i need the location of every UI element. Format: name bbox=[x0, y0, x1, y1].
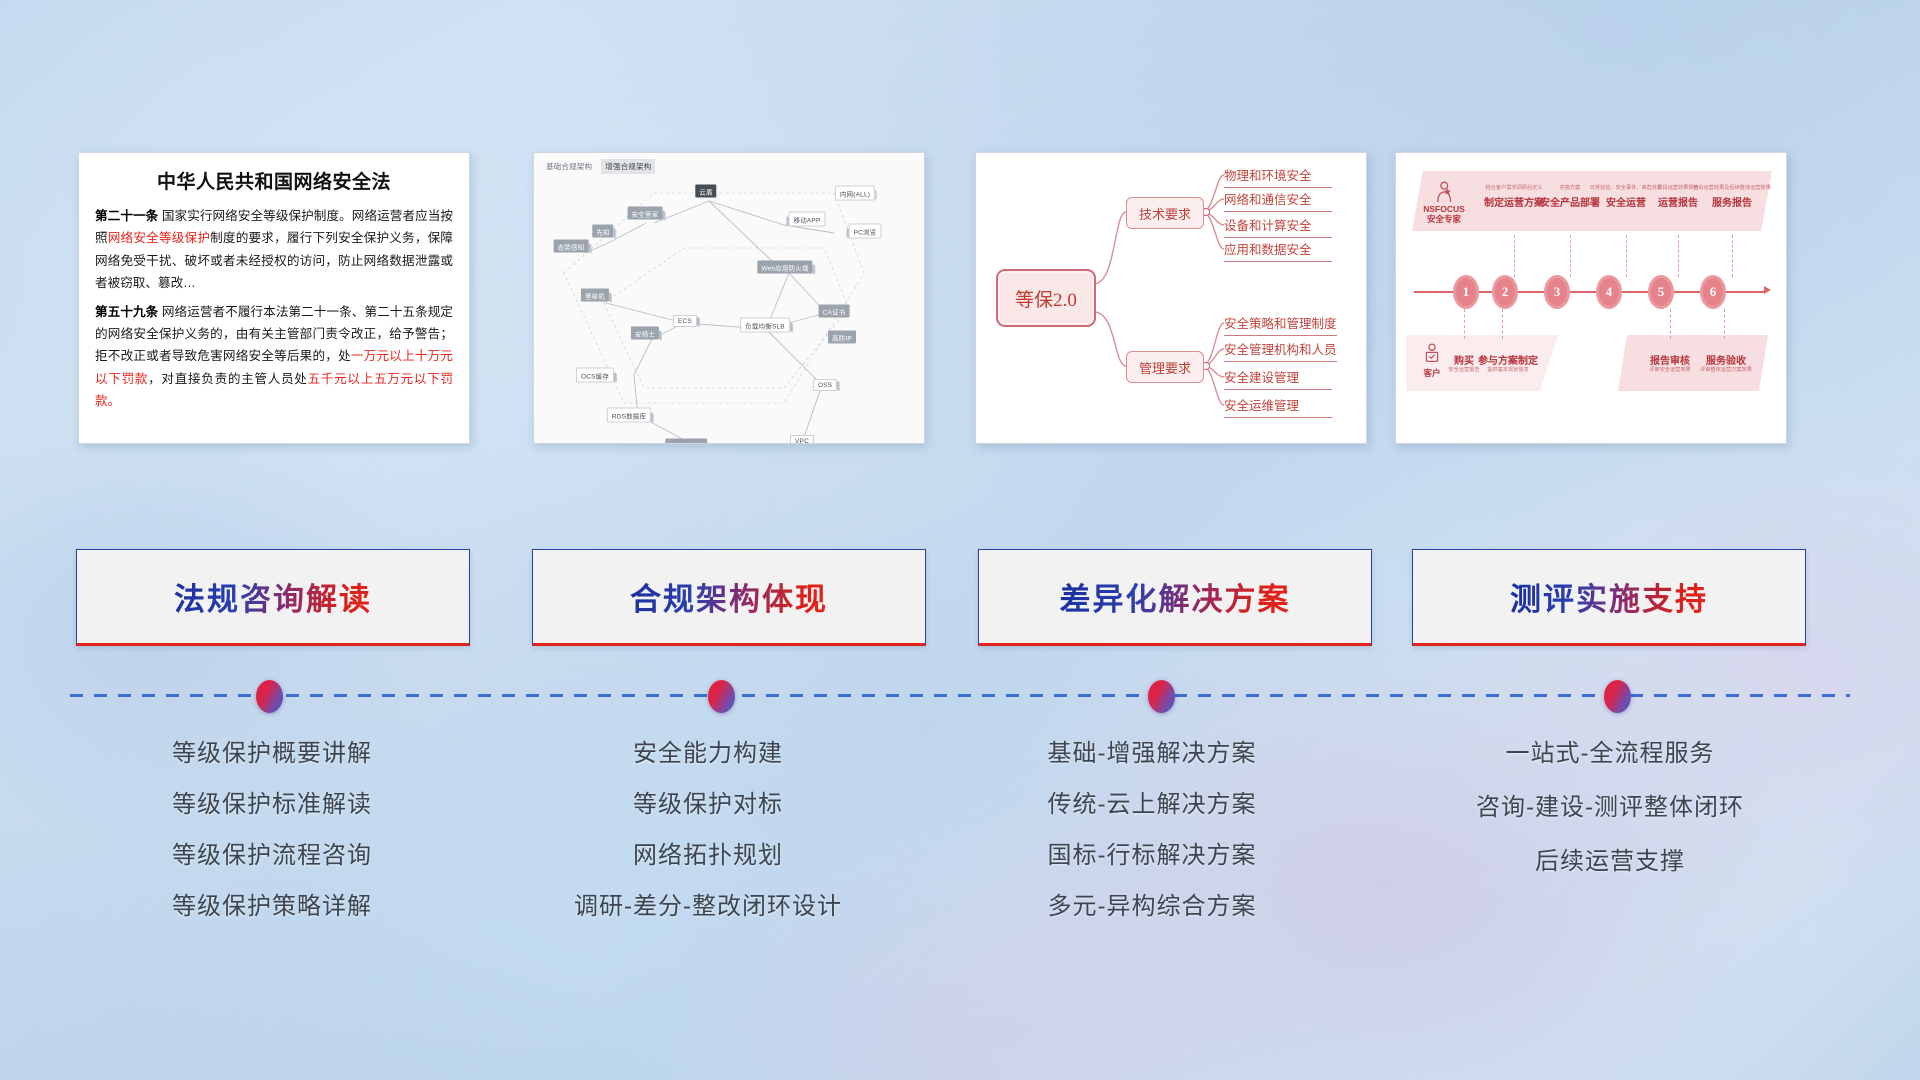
step-sub: 评审整体运营方案效果 bbox=[1700, 367, 1752, 373]
arch-node-label: 高防IP bbox=[828, 331, 856, 344]
mindmap-leaf: 安全运维管理 bbox=[1224, 395, 1332, 418]
list-item: 等级保护对标 bbox=[508, 793, 908, 817]
list-item: 传统-云上解决方案 bbox=[952, 793, 1352, 817]
list-item: 后续运营支撑 bbox=[1410, 850, 1810, 874]
step-main: 服务验收 bbox=[1700, 352, 1752, 367]
mindmap-leaf: 物理和环境安全 bbox=[1224, 165, 1332, 188]
step-sub: 提供基本现状信息 bbox=[1478, 367, 1538, 373]
customer-label: 客户 bbox=[1423, 367, 1441, 379]
arch-node-label: 安全管家 bbox=[628, 207, 663, 220]
step-sub: 评审安全运营效果 bbox=[1649, 367, 1691, 373]
article-59-label: 第五十九条 bbox=[95, 305, 158, 319]
customer-person-icon bbox=[1423, 343, 1441, 365]
mindmap-leaf: 网络和通信安全 bbox=[1224, 189, 1332, 212]
list-item: 网络拓扑规划 bbox=[508, 844, 908, 868]
list-item: 等级保护概要讲解 bbox=[72, 742, 472, 766]
column-differentiated-solution: 基础-增强解决方案 传统-云上解决方案 国标-行标解决方案 多元-异构综合方案 bbox=[952, 742, 1352, 946]
arch-node-label: 安骑士 bbox=[631, 327, 659, 340]
list-item: 安全能力构建 bbox=[508, 742, 908, 766]
law-title: 中华人民共和国网络安全法 bbox=[95, 167, 453, 194]
arch-node-label: 态势感知 bbox=[554, 240, 589, 253]
arch-node-label: OSS bbox=[813, 379, 837, 391]
process-step-dot: 2 bbox=[1492, 275, 1518, 309]
step-main: 报告审核 bbox=[1649, 352, 1691, 367]
banner-label: 合规架构体现 bbox=[630, 574, 828, 619]
step-sub: 安全运营报告 bbox=[1448, 367, 1479, 373]
law-article-59: 第五十九条 网络运营者不履行本法第二十一条、第二十五条规定的网络安全保护义务的，… bbox=[95, 301, 453, 413]
card-mindmap-dengbao[interactable]: 等保2.0 技术要求 管理要求 物理和环境安全 网络和通信安全 设备和计算安全 … bbox=[975, 152, 1367, 444]
nsfocus-expert-actor: NSFOCUS 安全专家 bbox=[1423, 181, 1465, 225]
nsfocus-bottom-step: 服务验收 评审整体运营方案效果 bbox=[1700, 349, 1752, 373]
list-item: 基础-增强解决方案 bbox=[952, 742, 1352, 766]
banner-evaluation-support[interactable]: 测评实施支持 bbox=[1412, 549, 1806, 646]
process-axis-arrow bbox=[1764, 286, 1771, 294]
law-document-body: 中华人民共和国网络安全法 第二十一条 国家实行网络安全等级保护制度。网络运营者应… bbox=[79, 153, 469, 443]
mindmap-leaf: 安全建设管理 bbox=[1224, 367, 1332, 390]
mindmap: 等保2.0 技术要求 管理要求 物理和环境安全 网络和通信安全 设备和计算安全 … bbox=[976, 153, 1366, 443]
arch-node-label: 移动APP bbox=[788, 212, 825, 227]
process-step-dot: 4 bbox=[1596, 275, 1622, 309]
nsfocus-bottom-step: 参与方案制定 提供基本现状信息 bbox=[1478, 349, 1538, 373]
timeline-marker-4[interactable] bbox=[1604, 680, 1631, 713]
process-step-dot: 5 bbox=[1648, 275, 1674, 309]
list-item: 一站式-全流程服务 bbox=[1410, 742, 1810, 766]
mindmap-leaf: 设备和计算安全 bbox=[1224, 215, 1332, 238]
article-59-text-b: ，对直接负责的主管人员处 bbox=[148, 372, 307, 386]
arch-node-label: 数据库审计 bbox=[665, 439, 707, 445]
step-main: 参与方案制定 bbox=[1478, 352, 1538, 367]
nsfocus-top-step: 日常巡检、安全事件、高危处置 安全运营 bbox=[1590, 185, 1663, 209]
law-article-21: 第二十一条 国家实行网络安全等级保护制度。网络运营者应当按照网络安全等级保护制度… bbox=[95, 205, 453, 295]
banner-label: 法规咨询解读 bbox=[174, 574, 372, 619]
list-item: 咨询-建设-测评整体闭环 bbox=[1410, 796, 1810, 820]
article-21-label: 第二十一条 bbox=[95, 209, 158, 223]
list-item: 国标-行标解决方案 bbox=[952, 844, 1352, 868]
mindmap-branch-management: 管理要求 bbox=[1126, 351, 1204, 383]
step-main: 安全运营 bbox=[1590, 194, 1663, 209]
column-compliance-architecture: 安全能力构建 等级保护对标 网络拓扑规划 调研-差分-整改闭环设计 bbox=[508, 742, 908, 946]
timeline-marker-2[interactable] bbox=[708, 680, 735, 713]
process-step-dot: 6 bbox=[1700, 275, 1726, 309]
arch-node-label: 先知 bbox=[592, 225, 613, 238]
banner-label: 测评实施支持 bbox=[1510, 574, 1708, 619]
mindmap-branch-technical: 技术要求 bbox=[1126, 197, 1204, 229]
architecture-diagram: 基础合规架构 增强合规架构 bbox=[534, 153, 924, 443]
step-main: 购买 bbox=[1448, 352, 1479, 367]
process-step-dot: 1 bbox=[1453, 275, 1479, 309]
nsfocus-process-diagram: NSFOCUS 安全专家 客户 结合客户需求调研后 bbox=[1396, 153, 1786, 443]
nsfocus-bottom-step: 购买 安全运营报告 bbox=[1448, 349, 1479, 373]
step-main: 服务报告 bbox=[1693, 194, 1771, 209]
process-step-dot: 3 bbox=[1544, 275, 1570, 309]
step-main: 制定运营方案 bbox=[1484, 194, 1544, 209]
arch-node-label: RDS数据库 bbox=[607, 408, 651, 423]
nsfocus-top-step: 给出运营效果及后续整体运营效果 服务报告 bbox=[1693, 185, 1771, 209]
step-sub: 日常巡检、安全事件、高危处置 bbox=[1590, 185, 1663, 191]
card-compliance-architecture[interactable]: 基础合规架构 增强合规架构 bbox=[533, 152, 925, 444]
nsfocus-bottom-step: 报告审核 评审安全运营效果 bbox=[1649, 349, 1691, 373]
arch-node-label: 内网(ALL) bbox=[835, 186, 875, 201]
mindmap-leaf: 安全策略和管理制度 bbox=[1224, 313, 1337, 336]
list-item: 等级保护标准解读 bbox=[72, 793, 472, 817]
step-sub: 结合客户需求调研后定义 bbox=[1484, 185, 1544, 191]
list-item: 调研-差分-整改闭环设计 bbox=[508, 895, 908, 919]
column-evaluation-support: 一站式-全流程服务 咨询-建设-测评整体闭环 后续运营支撑 bbox=[1410, 742, 1810, 904]
banner-differentiated-solution[interactable]: 差异化解决方案 bbox=[978, 549, 1372, 646]
arch-node-label: 负载均衡SLB bbox=[740, 318, 790, 333]
card-law-document[interactable]: 中华人民共和国网络安全法 第二十一条 国家实行网络安全等级保护制度。网络运营者应… bbox=[78, 152, 470, 444]
banner-regulation-consulting[interactable]: 法规咨询解读 bbox=[76, 549, 470, 646]
arch-node-label: ECS bbox=[673, 315, 697, 327]
arch-node-label: CA证书 bbox=[819, 305, 850, 318]
arch-node-label: 云盾 bbox=[695, 185, 716, 198]
card-nsfocus-timeline[interactable]: NSFOCUS 安全专家 客户 结合客户需求调研后 bbox=[1395, 152, 1787, 444]
banner-compliance-architecture[interactable]: 合规架构体现 bbox=[532, 549, 926, 646]
article-21-highlight: 网络安全等级保护 bbox=[108, 231, 210, 245]
timeline-marker-3[interactable] bbox=[1148, 680, 1175, 713]
arch-node-label: 堡垒机 bbox=[581, 289, 609, 302]
nsfocus-top-step: 结合客户需求调研后定义 制定运营方案 bbox=[1484, 185, 1544, 209]
architecture-nodes: 云盾 安全管家 先知 态势感知 堡垒机 安骑士 OCS缓存 RDS数据库 数据库… bbox=[534, 153, 924, 443]
timeline-marker-1[interactable] bbox=[256, 680, 283, 713]
image-card-row: 中华人民共和国网络安全法 第二十一条 国家实行网络安全等级保护制度。网络运营者应… bbox=[0, 0, 1920, 460]
arch-node-label: PC浏览 bbox=[849, 224, 882, 239]
mindmap-leaf: 安全管理机构和人员 bbox=[1224, 339, 1337, 362]
column-regulation-consulting: 等级保护概要讲解 等级保护标准解读 等级保护流程咨询 等级保护策略详解 bbox=[72, 742, 472, 946]
mindmap-leaf: 应用和数据安全 bbox=[1224, 239, 1332, 262]
list-item: 等级保护流程咨询 bbox=[72, 844, 472, 868]
banner-label: 差异化解决方案 bbox=[1060, 574, 1291, 619]
customer-actor: 客户 bbox=[1423, 343, 1441, 379]
expert-line-2: 安全专家 bbox=[1423, 215, 1465, 225]
expert-person-icon bbox=[1434, 181, 1454, 203]
dashed-timeline bbox=[70, 694, 1850, 697]
mindmap-root: 等保2.0 bbox=[996, 269, 1096, 327]
list-item: 多元-异构综合方案 bbox=[952, 895, 1352, 919]
arch-node-label: OCS缓存 bbox=[576, 368, 614, 383]
arch-node-label: VPC bbox=[790, 435, 814, 444]
step-sub: 给出运营效果及后续整体运营效果 bbox=[1693, 185, 1771, 191]
list-item: 等级保护策略详解 bbox=[72, 895, 472, 919]
arch-node-label: Web应用防火墙 bbox=[757, 261, 812, 274]
